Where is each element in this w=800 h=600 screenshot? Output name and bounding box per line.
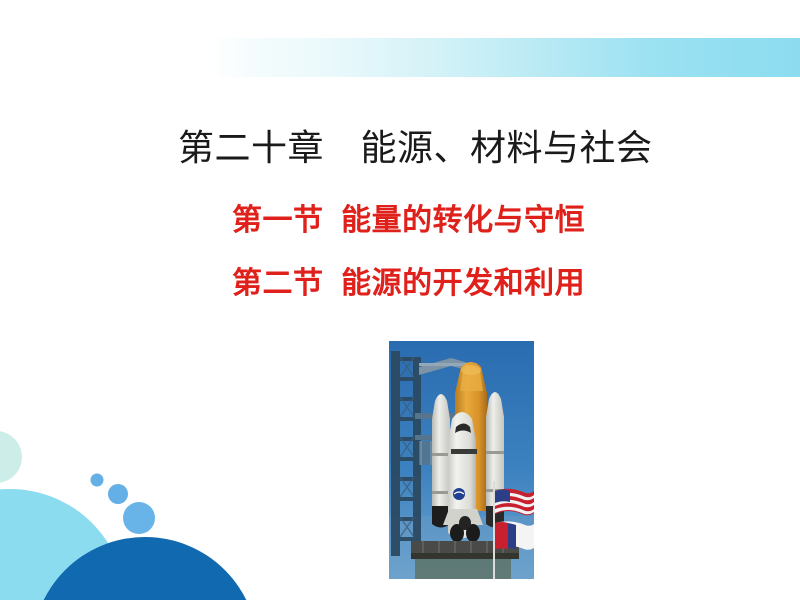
top-gradient-banner xyxy=(210,38,800,77)
slide-canvas: 第二十章 能源、材料与社会 第一节 能量的转化与守恒 第二节 能源的开发和利用 xyxy=(0,0,800,600)
small-blue-dot xyxy=(91,474,104,487)
section-line-1: 第一节 能量的转化与守恒 xyxy=(232,202,585,240)
page-title: 第二十章 能源、材料与社会 xyxy=(178,126,653,170)
mint-circle xyxy=(0,431,22,483)
space-shuttle-launch-pad-photo xyxy=(389,341,534,579)
large-blue-dot xyxy=(123,502,155,534)
medium-blue-dot xyxy=(108,484,128,504)
dark-blue-circle xyxy=(32,537,258,600)
shuttle-illustration xyxy=(389,341,534,579)
section-line-2: 第二节 能源的开发和利用 xyxy=(232,265,585,303)
light-cyan-circle xyxy=(0,489,126,600)
